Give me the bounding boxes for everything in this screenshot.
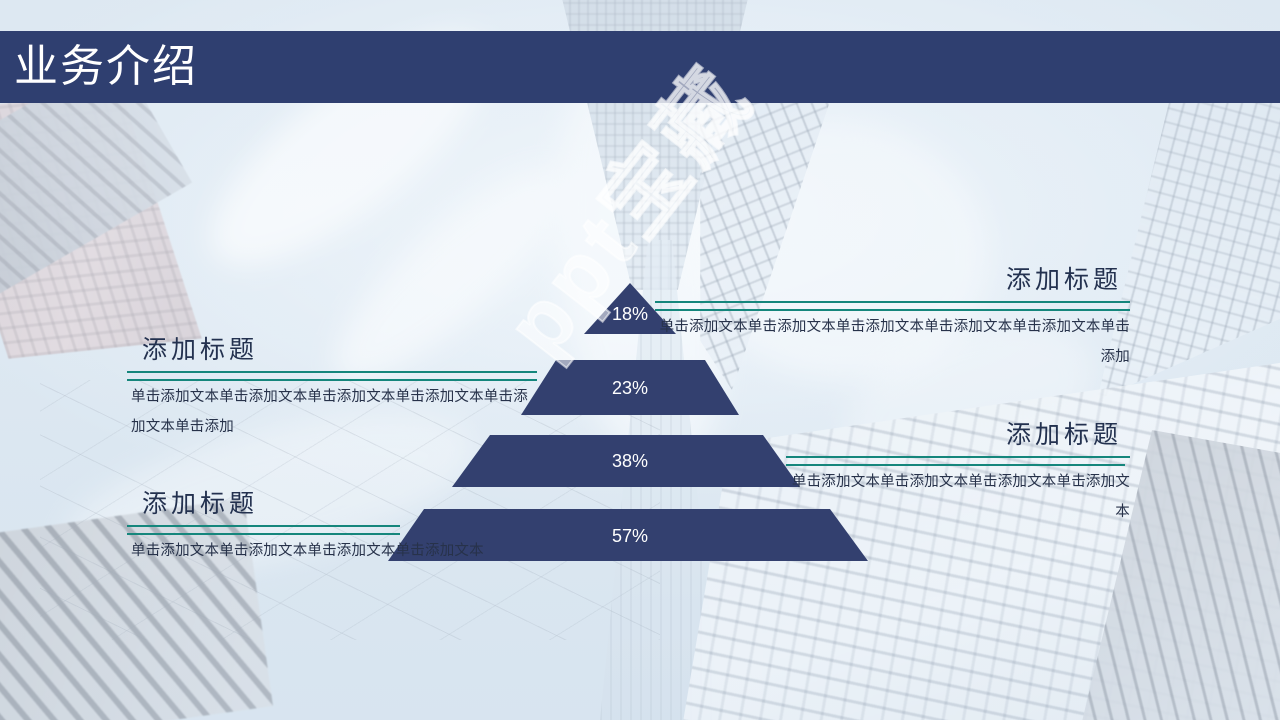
- block-body-top-right: 单击添加文本单击添加文本单击添加文本单击添加文本单击添加文本单击添加: [655, 312, 1130, 372]
- block-title-bottom-left: 添加标题: [127, 487, 537, 521]
- block-title-bottom-right: 添加标题: [786, 418, 1130, 452]
- block-rule-bottom-right: [786, 456, 1130, 458]
- text-block-bottom-right[interactable]: 添加标题 单击添加文本单击添加文本单击添加文本单击添加文本: [786, 418, 1130, 527]
- text-block-top-right[interactable]: 添加标题 单击添加文本单击添加文本单击添加文本单击添加文本单击添加文本单击添加: [655, 263, 1130, 372]
- pyramid-level-1-label: 18%: [612, 304, 648, 324]
- text-block-top-left[interactable]: 添加标题 单击添加文本单击添加文本单击添加文本单击添加文本单击添加文本单击添加: [127, 333, 537, 442]
- block-rule-top-left: [127, 371, 537, 373]
- block-rule-bottom-left: [127, 525, 400, 527]
- block-title-top-left: 添加标题: [127, 333, 537, 367]
- slide-canvas: 业务介绍 18% 23% 38% 57% ppt宝藏 添加标题 单击添加文本单击…: [0, 0, 1280, 720]
- block-body-bottom-left: 单击添加文本单击添加文本单击添加文本单击添加文本: [127, 536, 537, 566]
- pyramid-level-3-label: 38%: [612, 451, 648, 471]
- block-rule-top-right: [655, 301, 1130, 303]
- block-title-top-right: 添加标题: [655, 263, 1130, 297]
- text-block-bottom-left[interactable]: 添加标题 单击添加文本单击添加文本单击添加文本单击添加文本: [127, 487, 537, 566]
- pyramid-level-2-label: 23%: [612, 378, 648, 398]
- pyramid-level-4-label: 57%: [612, 526, 648, 546]
- block-body-top-left: 单击添加文本单击添加文本单击添加文本单击添加文本单击添加文本单击添加: [127, 382, 537, 442]
- block-body-bottom-right: 单击添加文本单击添加文本单击添加文本单击添加文本: [786, 467, 1130, 527]
